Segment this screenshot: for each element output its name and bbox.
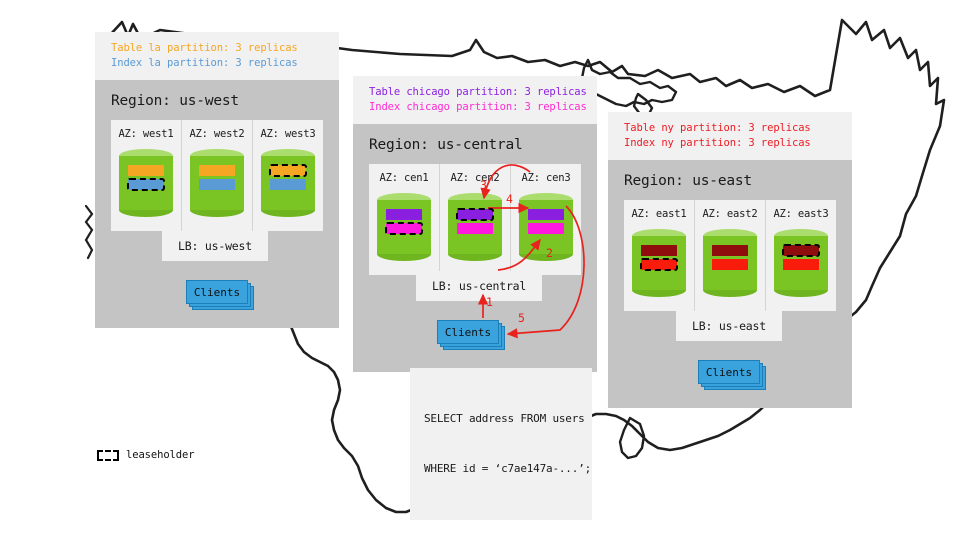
replica-bar-index-leaseholder <box>641 259 677 270</box>
az-strip: AZ: west1 AZ: west2 <box>111 120 323 231</box>
replica-bars <box>774 245 828 270</box>
sql-line-2: WHERE id = ‘c7ae147a-...’; <box>424 461 578 478</box>
node-cylinder-east2[interactable] <box>703 229 757 297</box>
replica-bars <box>519 209 573 234</box>
clients-us-west[interactable]: Clients <box>186 280 254 306</box>
replica-bar-table <box>528 209 564 220</box>
az-label: AZ: west1 <box>111 128 181 140</box>
node-cylinder-cen1[interactable] <box>377 193 431 261</box>
replica-bar-table <box>641 245 677 256</box>
az-strip: AZ: east1 AZ: east2 <box>624 200 836 311</box>
replica-bars <box>632 245 686 270</box>
node-cylinder-cen2[interactable] <box>448 193 502 261</box>
load-balancer-us-east[interactable]: LB: us-east <box>676 311 782 341</box>
legend-line-index: Index chicago partition: 3 replicas <box>369 100 583 115</box>
az-cell-west1[interactable]: AZ: west1 <box>111 120 182 231</box>
replica-bar-table <box>712 245 748 256</box>
az-label: AZ: east2 <box>695 208 765 220</box>
leaseholder-dashed-swatch-icon <box>97 450 119 461</box>
az-label: AZ: east3 <box>766 208 836 220</box>
az-label: AZ: cen1 <box>369 172 439 184</box>
replica-bar-index <box>457 223 493 234</box>
replica-bar-index-leaseholder <box>386 223 422 234</box>
arrow-number-2: 2 <box>546 246 553 260</box>
region-title: Region: us-west <box>95 80 339 120</box>
clients-us-central[interactable]: Clients <box>437 320 505 346</box>
region-legend-us-east: Table ny partition: 3 replicas Index ny … <box>608 112 852 160</box>
replica-bars <box>261 165 315 190</box>
clients-label: Clients <box>437 320 499 344</box>
replica-bars <box>377 209 431 234</box>
clients-label: Clients <box>698 360 760 384</box>
replica-bar-table-leaseholder <box>457 209 493 220</box>
sql-query-box: SELECT address FROM users WHERE id = ‘c7… <box>410 368 592 520</box>
replica-bar-index <box>270 179 306 190</box>
replica-bars <box>703 245 757 270</box>
az-label: AZ: cen3 <box>511 172 581 184</box>
replica-bar-index <box>199 179 235 190</box>
az-label: AZ: east1 <box>624 208 694 220</box>
replica-bar-table-leaseholder <box>270 165 306 176</box>
load-balancer-us-central[interactable]: LB: us-central <box>416 271 542 301</box>
replica-bar-table <box>199 165 235 176</box>
replica-bar-index <box>528 223 564 234</box>
az-cell-cen1[interactable]: AZ: cen1 <box>369 164 440 275</box>
node-cylinder-east1[interactable] <box>632 229 686 297</box>
replica-bar-table-leaseholder <box>783 245 819 256</box>
region-legend-us-central: Table chicago partition: 3 replicas Inde… <box>353 76 597 124</box>
replica-bar-index <box>783 259 819 270</box>
az-cell-east2[interactable]: AZ: east2 <box>695 200 766 311</box>
replica-bar-index <box>712 259 748 270</box>
region-legend-us-west: Table la partition: 3 replicas Index la … <box>95 32 339 80</box>
arrow-number-4: 4 <box>506 192 513 206</box>
replica-bar-table <box>386 209 422 220</box>
replica-bar-index-leaseholder <box>128 179 164 190</box>
arrow-number-5: 5 <box>518 311 525 325</box>
az-cell-east1[interactable]: AZ: east1 <box>624 200 695 311</box>
leaseholder-legend: leaseholder <box>97 449 194 461</box>
leaseholder-legend-label: leaseholder <box>126 449 194 461</box>
arrow-number-3: 3 <box>480 178 487 192</box>
az-label: AZ: west2 <box>182 128 252 140</box>
node-cylinder-west3[interactable] <box>261 149 315 217</box>
node-cylinder-west2[interactable] <box>190 149 244 217</box>
replica-bar-table <box>128 165 164 176</box>
region-title: Region: us-east <box>608 160 852 200</box>
replica-bars <box>119 165 173 190</box>
az-label: AZ: west3 <box>253 128 323 140</box>
region-title: Region: us-central <box>353 124 597 164</box>
az-cell-west2[interactable]: AZ: west2 <box>182 120 253 231</box>
diagram-canvas: Table la partition: 3 replicas Index la … <box>0 0 960 540</box>
replica-bars <box>448 209 502 234</box>
az-cell-east3[interactable]: AZ: east3 <box>766 200 836 311</box>
legend-line-table: Table chicago partition: 3 replicas <box>369 85 583 100</box>
node-cylinder-west1[interactable] <box>119 149 173 217</box>
clients-us-east[interactable]: Clients <box>698 360 766 386</box>
legend-line-index: Index ny partition: 3 replicas <box>624 136 838 151</box>
az-cell-cen2[interactable]: AZ: cen2 <box>440 164 511 275</box>
load-balancer-us-west[interactable]: LB: us-west <box>162 231 268 261</box>
az-cell-west3[interactable]: AZ: west3 <box>253 120 323 231</box>
clients-label: Clients <box>186 280 248 304</box>
legend-line-table: Table la partition: 3 replicas <box>111 41 325 56</box>
replica-bars <box>190 165 244 190</box>
legend-line-table: Table ny partition: 3 replicas <box>624 121 838 136</box>
legend-line-index: Index la partition: 3 replicas <box>111 56 325 71</box>
az-label: AZ: cen2 <box>440 172 510 184</box>
arrow-number-1: 1 <box>486 295 493 309</box>
sql-line-1: SELECT address FROM users <box>424 411 578 428</box>
node-cylinder-east3[interactable] <box>774 229 828 297</box>
